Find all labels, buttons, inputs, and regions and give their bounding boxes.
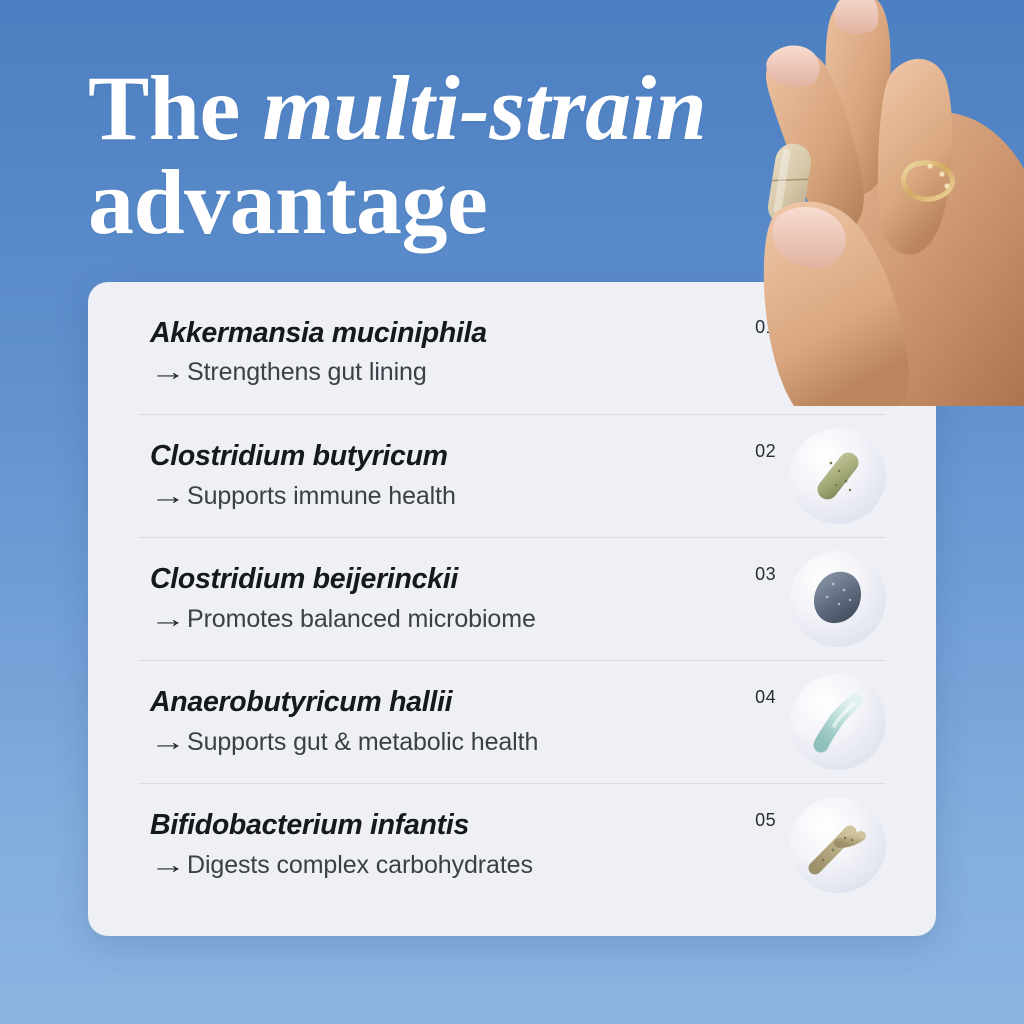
strain-benefit: → Supports immune health <box>150 482 755 511</box>
strain-index: 03 <box>755 564 776 585</box>
arrow-right-icon: → <box>150 605 188 634</box>
strain-row: Bifidobacterium infantis → Digests compl… <box>138 783 886 906</box>
headline-line-1: The multi-strain <box>88 62 768 156</box>
strain-index: 04 <box>755 687 776 708</box>
promotional-graphic: The multi-strain advantage <box>0 0 1024 1024</box>
strain-name: Bifidobacterium infantis <box>150 810 755 841</box>
ring-bead <box>944 183 949 188</box>
strain-name: Clostridium butyricum <box>150 441 755 472</box>
microbe-blob-shape <box>803 564 873 634</box>
strain-benefit: → Strengthens gut lining <box>150 358 755 387</box>
strain-benefit-text: Strengthens gut lining <box>187 358 427 387</box>
akkermansia-microbe-icon <box>790 305 886 401</box>
clostridium-butyricum-microbe-icon <box>790 428 886 524</box>
strain-index: 01 <box>755 317 776 338</box>
page-title: The multi-strain advantage <box>88 62 768 250</box>
strain-row-text: Bifidobacterium infantis → Digests compl… <box>138 810 755 879</box>
microbe-rod-shape <box>803 441 873 511</box>
ring-bead <box>927 163 932 168</box>
strain-row-text: Clostridium beijerinckii → Promotes bala… <box>138 564 755 633</box>
strain-benefit-text: Supports immune health <box>187 482 456 511</box>
strain-index: 02 <box>755 441 776 462</box>
headline-italic: multi-strain <box>262 57 706 159</box>
strain-row: Clostridium beijerinckii → Promotes bala… <box>138 537 886 660</box>
anaerobutyricum-microbe-icon <box>790 674 886 770</box>
microbe-curved-rod-shape <box>803 687 873 757</box>
strain-name: Akkermansia muciniphila <box>150 318 755 349</box>
ring-bead <box>939 171 944 176</box>
arrow-right-icon: → <box>150 358 188 387</box>
strain-name: Clostridium beijerinckii <box>150 564 755 595</box>
strain-row: Clostridium butyricum → Supports immune … <box>138 414 886 537</box>
thumb-nail <box>773 207 846 268</box>
middle-finger-nail <box>834 0 878 34</box>
arrow-right-icon: → <box>150 482 188 511</box>
ring-icon <box>904 163 953 199</box>
strain-index: 05 <box>755 810 776 831</box>
strain-row: Akkermansia muciniphila → Strengthens gu… <box>138 291 886 414</box>
strain-name: Anaerobutyricum hallii <box>150 687 755 718</box>
arrow-right-icon: → <box>150 851 188 880</box>
strain-list-card: Akkermansia muciniphila → Strengthens gu… <box>88 282 936 936</box>
clostridium-beijerinckii-microbe-icon <box>790 551 886 647</box>
microbe-blob-shape <box>803 318 873 388</box>
capsule-icon <box>765 141 813 228</box>
strain-row-text: Akkermansia muciniphila → Strengthens gu… <box>138 318 755 387</box>
strain-row-text: Anaerobutyricum hallii → Supports gut & … <box>138 687 755 756</box>
headline-line-2: advantage <box>88 156 768 250</box>
arrow-right-icon: → <box>150 728 188 757</box>
strain-benefit: → Digests complex carbohydrates <box>150 851 755 880</box>
strain-row-text: Clostridium butyricum → Supports immune … <box>138 441 755 510</box>
microbe-branched-rod-shape <box>803 810 873 880</box>
strain-benefit-text: Digests complex carbohydrates <box>187 851 533 880</box>
strain-benefit: → Promotes balanced microbiome <box>150 605 755 634</box>
strain-row: Anaerobutyricum hallii → Supports gut & … <box>138 660 886 783</box>
strain-benefit-text: Promotes balanced microbiome <box>187 605 536 634</box>
strain-benefit: → Supports gut & metabolic health <box>150 728 755 757</box>
middle-finger <box>825 0 890 196</box>
index-finger <box>766 50 864 230</box>
ring-finger <box>878 59 952 255</box>
bifidobacterium-microbe-icon <box>790 797 886 893</box>
headline-plain: The <box>88 57 262 159</box>
index-finger-nail <box>766 46 819 87</box>
strain-benefit-text: Supports gut & metabolic health <box>187 728 538 757</box>
